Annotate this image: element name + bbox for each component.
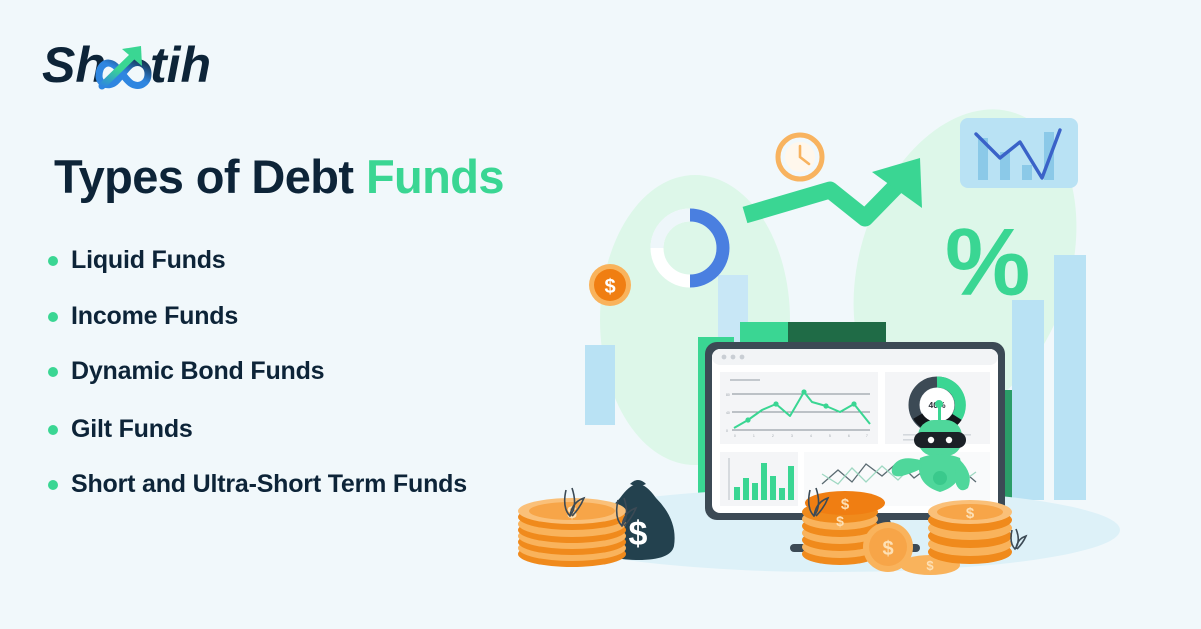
- coin-dollar-glyph: $: [604, 276, 615, 298]
- screen-bar-chart: [720, 452, 798, 506]
- svg-text:0: 0: [734, 434, 736, 438]
- list-item-label: Dynamic Bond Funds: [71, 355, 324, 389]
- svg-text:2: 2: [772, 434, 774, 438]
- coin-dollar-glyph: $: [841, 496, 850, 513]
- coin-stack-right: $: [928, 500, 1012, 564]
- bullet-dot-icon: [48, 367, 58, 377]
- money-bag-dollar-glyph: $: [629, 515, 648, 553]
- list-item-label: Short and Ultra-Short Term Funds: [71, 468, 467, 502]
- percent-symbol: %: [945, 209, 1030, 316]
- list-item-label: Income Funds: [71, 300, 238, 334]
- page-title-accent: Funds: [366, 150, 504, 203]
- list-item: Short and Ultra-Short Term Funds: [48, 468, 468, 502]
- percent-glyph: %: [945, 209, 1030, 316]
- banner-canvas: Sh tih Types of Debt Funds Liquid Funds …: [0, 0, 1201, 629]
- bullet-dot-icon: [48, 425, 58, 435]
- brand-logo[interactable]: Sh tih: [42, 36, 272, 98]
- list-item: Income Funds: [48, 300, 468, 334]
- svg-text:80: 80: [726, 393, 730, 397]
- coin-dollar-glyph: $: [836, 513, 844, 529]
- bullet-dot-icon: [48, 256, 58, 266]
- window-dot-2: [731, 355, 736, 360]
- bg-bar-left: [585, 345, 615, 425]
- coin-dollar-glyph: $: [926, 558, 934, 573]
- window-dot-3: [740, 355, 745, 360]
- monitor-top-bar-dark: [788, 322, 886, 342]
- svg-text:40: 40: [726, 411, 730, 415]
- svg-text:6: 6: [848, 434, 850, 438]
- list-item-label: Liquid Funds: [71, 244, 226, 278]
- logo-text-prefix: Sh: [42, 37, 106, 93]
- coin-dollar-glyph: $: [966, 505, 975, 522]
- logo-text-suffix: tih: [150, 37, 211, 93]
- bullet-list: Liquid Funds Income Funds Dynamic Bond F…: [48, 244, 468, 502]
- coin-dollar-glyph: $: [882, 538, 893, 560]
- bullet-dot-icon: [48, 480, 58, 490]
- window-dot-1: [722, 355, 727, 360]
- list-item: Liquid Funds: [48, 244, 468, 278]
- svg-text:5: 5: [829, 434, 831, 438]
- list-item-label: Gilt Funds: [71, 413, 193, 447]
- bullet-dot-icon: [48, 312, 58, 322]
- list-item: Dynamic Bond Funds: [48, 355, 468, 389]
- list-item: Gilt Funds: [48, 413, 468, 447]
- svg-text:3: 3: [791, 434, 793, 438]
- robot-visor: [914, 432, 966, 448]
- svg-text:1: 1: [753, 434, 755, 438]
- monitor-top-bar-light: [740, 322, 788, 342]
- svg-text:7: 7: [866, 434, 868, 438]
- svg-text:4: 4: [810, 434, 812, 438]
- dollar-coin-icon: $: [589, 264, 631, 306]
- page-title-primary: Types of Debt: [54, 150, 353, 203]
- svg-text:0: 0: [726, 429, 728, 433]
- screen-line-chart: 80 40 0 0 1 2 3 4 5 6 7: [720, 372, 878, 444]
- finance-illustration: % $: [500, 60, 1190, 620]
- page-title: Types of Debt Funds: [54, 152, 504, 203]
- bg-bar-2: [1012, 300, 1044, 500]
- bg-bar-3: [1054, 255, 1086, 500]
- mini-chart-card: [960, 118, 1078, 188]
- clock-icon: [778, 135, 822, 179]
